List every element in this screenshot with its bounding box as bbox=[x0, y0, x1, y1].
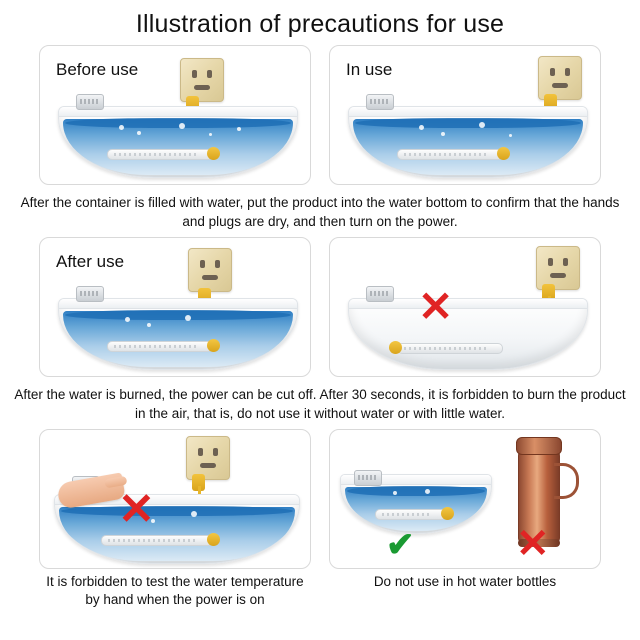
page-title: Illustration of precautions for use bbox=[0, 0, 640, 39]
heater-knob bbox=[207, 147, 220, 160]
panel-no-thermos: ✔ ✕ bbox=[329, 429, 601, 569]
water-basin-icon bbox=[58, 298, 298, 370]
panel-no-hand-test: ✕ bbox=[39, 429, 311, 569]
water-basin-icon bbox=[58, 106, 298, 178]
scene-in-use bbox=[330, 46, 600, 184]
heater-connector bbox=[366, 286, 394, 302]
immersion-heater-icon bbox=[107, 341, 213, 352]
forbidden-mark-icon: ✕ bbox=[418, 286, 453, 328]
heater-connector bbox=[76, 94, 104, 110]
water-basin-icon bbox=[348, 298, 588, 370]
panel-row-1: Before use bbox=[0, 45, 640, 185]
immersion-heater-icon bbox=[101, 535, 213, 546]
heater-connector bbox=[366, 94, 394, 110]
scene-no-air-burn: ✕ bbox=[330, 238, 600, 376]
power-socket-icon bbox=[188, 248, 232, 292]
forbidden-mark-icon: ✕ bbox=[516, 524, 550, 564]
heater-knob bbox=[207, 339, 220, 352]
panel-row-2: After use bbox=[0, 237, 640, 377]
panel-row-3: ✕ bbox=[0, 429, 640, 569]
caption-row-3: It is forbidden to test the water temper… bbox=[0, 573, 640, 609]
scene-after-use bbox=[40, 238, 310, 376]
heater-connector bbox=[354, 470, 382, 486]
panel-no-air-burn: ✕ bbox=[329, 237, 601, 377]
caption-no-hand-test: It is forbidden to test the water temper… bbox=[39, 573, 311, 609]
heater-knob bbox=[389, 341, 402, 354]
water-basin-icon bbox=[348, 106, 588, 178]
heater-knob bbox=[441, 507, 454, 520]
caption-no-thermos: Do not use in hot water bottles bbox=[329, 573, 601, 609]
immersion-heater-icon bbox=[397, 343, 503, 354]
panel-in-use: In use bbox=[329, 45, 601, 185]
panel-after-use: After use bbox=[39, 237, 311, 377]
caption-row-1: After the container is filled with water… bbox=[0, 185, 640, 231]
forbidden-mark-icon: ✕ bbox=[118, 488, 155, 532]
caption-row-2: After the water is burned, the power can… bbox=[0, 377, 640, 423]
heater-knob bbox=[497, 147, 510, 160]
heater-knob bbox=[207, 533, 220, 546]
water-basin-icon bbox=[54, 494, 300, 564]
heater-connector bbox=[76, 286, 104, 302]
panel-before-use: Before use bbox=[39, 45, 311, 185]
immersion-heater-icon bbox=[375, 509, 447, 520]
allowed-mark-icon: ✔ bbox=[386, 528, 415, 562]
immersion-heater-icon bbox=[397, 149, 503, 160]
scene-before-use bbox=[40, 46, 310, 184]
scene-no-thermos: ✔ ✕ bbox=[330, 430, 600, 568]
precaution-illustration-page: Illustration of precautions for use Befo… bbox=[0, 0, 640, 640]
scene-no-hand-test: ✕ bbox=[40, 430, 310, 568]
immersion-heater-icon bbox=[107, 149, 213, 160]
